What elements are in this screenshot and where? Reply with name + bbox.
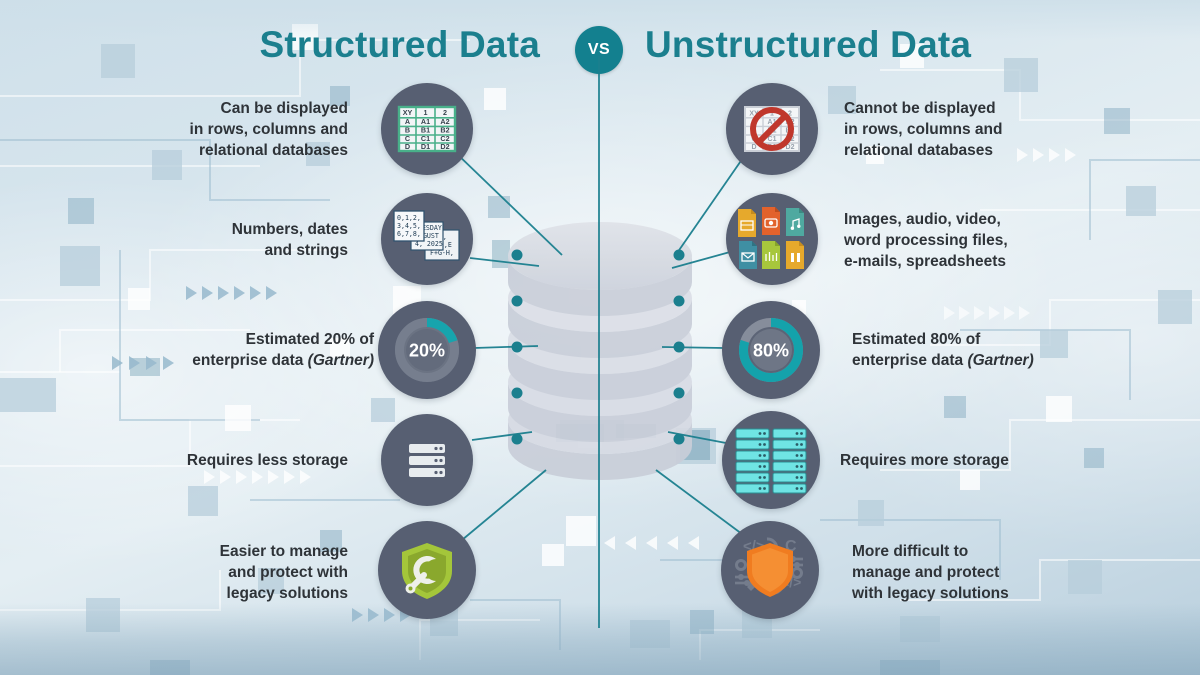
label-source: (Gartner) (308, 352, 374, 369)
label-unstructured-share: Estimated 80% of enterprise data (Gartne… (852, 329, 1102, 371)
donut-center-label-20: 20% (409, 341, 445, 361)
icon-shield-wrench-green (378, 521, 476, 619)
icon-numbers-dates-strings: XYZ, ABCD,E F+G-H, TUESDAY AUGUST 4, 202… (381, 193, 473, 285)
label-line: in rows, columns and (844, 119, 1074, 140)
donut-center-label-80: 80% (753, 341, 789, 361)
label-structured-storage: Requires less storage (118, 450, 348, 471)
label-structured-display: Can be displayed in rows, columns and re… (118, 98, 348, 161)
label-unstructured-types: Images, audio, video, word processing fi… (844, 209, 1084, 272)
arrow-decor-left-1 (186, 286, 277, 300)
label-line: and protect with (118, 562, 348, 583)
page-title-unstructured: Unstructured Data (645, 24, 971, 66)
label-unstructured-display: Cannot be displayed in rows, columns and… (844, 98, 1074, 161)
arrow-decor-right-2 (944, 306, 1030, 320)
icon-server-stack-large (722, 411, 820, 509)
label-line: Images, audio, video, (844, 209, 1084, 230)
label-line: relational databases (118, 140, 348, 161)
page-title-structured: Structured Data (259, 24, 540, 66)
svg-text:0,1,2,: 0,1,2, (397, 214, 421, 222)
label-line: relational databases (844, 140, 1074, 161)
label-line: manage and protect (852, 562, 1082, 583)
svg-text:D2: D2 (440, 142, 449, 151)
label-line: Estimated 20% of (114, 329, 374, 350)
svg-text:C1: C1 (768, 136, 777, 143)
label-structured-types: Numbers, dates and strings (118, 219, 348, 261)
svg-text:D: D (405, 142, 410, 151)
label-line: legacy solutions (118, 583, 348, 604)
svg-text:D: D (751, 144, 756, 151)
icon-data-table: XY12 AA1A2 BB1B2 CC1C2 DD1D2 (381, 83, 473, 175)
header: Structured Data VS Unstructured Data (0, 14, 1200, 72)
svg-text:2: 2 (443, 108, 447, 117)
chart-donut-20: 20% (378, 301, 476, 399)
infographic-canvas: Structured Data VS Unstructured Data Can… (0, 0, 1200, 675)
label-line: with legacy solutions (852, 583, 1082, 604)
label-line: Easier to manage (118, 541, 348, 562)
svg-text:6,7,8,: 6,7,8, (397, 230, 421, 238)
label-line: word processing files, (844, 230, 1084, 251)
label-line: e-mails, spreadsheets (844, 251, 1084, 272)
label-line: Cannot be displayed (844, 98, 1074, 119)
label-line: Numbers, dates (118, 219, 348, 240)
center-divider-line (598, 56, 600, 628)
arrow-decor-left-3 (204, 470, 311, 484)
icon-file-types (726, 193, 818, 285)
label-structured-share: Estimated 20% of enterprise data (Gartne… (114, 329, 374, 371)
label-line: in rows, columns and (118, 119, 348, 140)
icon-data-table-prohibited: XY12 AA1A2 BB1B2 CC1C2 DD1D2 (726, 83, 818, 175)
svg-text:3,4,5,: 3,4,5, (397, 222, 421, 230)
label-line: and strings (118, 240, 348, 261)
icon-server-stack-small (381, 414, 473, 506)
label-unstructured-manage: More difficult to manage and protect wit… (852, 541, 1082, 604)
label-text: enterprise data (852, 352, 967, 369)
label-line: Estimated 80% of (852, 329, 1102, 350)
icon-shield-code-orange: </> </> C (721, 521, 819, 619)
label-line: enterprise data (Gartner) (114, 350, 374, 371)
label-unstructured-storage: Requires more storage (840, 450, 1070, 471)
label-text: enterprise data (192, 352, 307, 369)
chart-donut-80: 80% (722, 301, 820, 399)
svg-text:XY: XY (403, 108, 413, 117)
arrow-decor-center-left (604, 536, 699, 550)
label-line: More difficult to (852, 541, 1082, 562)
label-structured-manage: Easier to manage and protect with legacy… (118, 541, 348, 604)
label-line: enterprise data (Gartner) (852, 350, 1102, 371)
svg-text:1: 1 (424, 108, 428, 117)
label-source: (Gartner) (967, 352, 1033, 369)
label-line: Can be displayed (118, 98, 348, 119)
svg-text:D1: D1 (421, 142, 430, 151)
